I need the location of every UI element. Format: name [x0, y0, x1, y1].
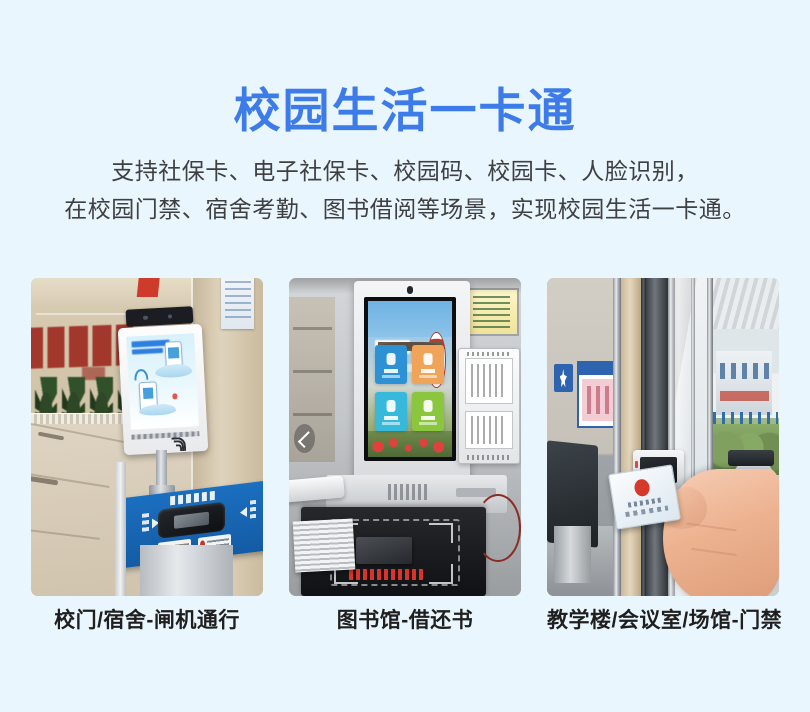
social-security-card: [608, 464, 681, 529]
book-stack: [292, 518, 355, 572]
nfc-icon: [170, 438, 189, 452]
page-title: 校园生活一卡通: [0, 87, 810, 134]
door-frame: [641, 278, 646, 596]
wifi-icon: [135, 369, 149, 380]
terminal-screen[interactable]: [126, 333, 199, 429]
turnstile-side-body: [115, 462, 127, 596]
tile-label: [384, 369, 398, 373]
gate-label-left: [143, 514, 149, 533]
tile-sublabel: [419, 422, 437, 424]
tile-sublabel: [419, 375, 437, 377]
kiosk-brand-text: [388, 484, 428, 501]
caption-gate: 校门/宿舍-闸机通行: [31, 604, 263, 636]
cable-coil: [475, 494, 521, 562]
instruction-panel: [458, 348, 520, 464]
noticeboard-body: [582, 379, 617, 421]
subtitle-line-2: 在校园门禁、宿舍考勤、图书借阅等场景，实现校园生活一卡通。: [0, 190, 810, 228]
scene-card-library[interactable]: [289, 278, 521, 596]
screen-tile-borrow[interactable]: [375, 345, 407, 384]
tile-sublabel: [382, 375, 400, 377]
scan-corner-marker: [429, 523, 453, 543]
desk-dark-band: [728, 450, 774, 466]
terminal-ad-subhead: [132, 347, 164, 354]
gate-card-reader-window[interactable]: [158, 502, 225, 540]
kiosk-screen[interactable]: [368, 301, 452, 457]
panel-qr-box: [465, 411, 513, 450]
status-led-red-icon: [635, 461, 639, 468]
accent-dot-icon: [172, 393, 178, 399]
screen-header-band: [368, 301, 452, 337]
panel-footer-text: [467, 455, 510, 460]
caption-row: 校门/宿舍-闸机通行 图书馆-借还书 教学楼/会议室/场馆-门禁: [31, 604, 779, 636]
return-box-icon: [423, 353, 432, 366]
screen-tile-return[interactable]: [412, 345, 444, 384]
outdoor-ceiling: [712, 278, 779, 329]
poster-text-lines: [225, 281, 251, 322]
outdoor-building: [716, 351, 772, 415]
screen-flowers-illustration: [368, 431, 452, 458]
notice-board: [464, 288, 519, 337]
kiosk-head: [354, 281, 470, 481]
wall-sign-icon: [554, 364, 573, 393]
scene-card-gate[interactable]: [31, 278, 263, 596]
bench-leg: [554, 526, 591, 583]
tile-sublabel: [382, 422, 400, 424]
photo-library-kiosk: [289, 278, 521, 596]
turnstile-body: [140, 545, 233, 596]
camera-lens-icon: [144, 315, 149, 320]
scan-corner-marker: [429, 564, 453, 584]
plant-icon: [90, 377, 112, 415]
screen-tile-search[interactable]: [375, 392, 407, 431]
face-recognition-terminal[interactable]: [118, 324, 208, 455]
outdoor-railing: [713, 412, 778, 425]
book-icon: [387, 353, 396, 366]
red-banner-strip: [136, 278, 160, 297]
book-on-pad: [356, 537, 412, 564]
national-emblem-icon: [633, 478, 651, 497]
door-frame: [613, 278, 621, 596]
arrow-right-icon: [240, 507, 247, 518]
scene-card-door[interactable]: [547, 278, 779, 596]
plant-icon: [35, 377, 57, 415]
panel-title-text: [467, 352, 510, 357]
search-icon: [387, 400, 396, 413]
gate-label-right: [250, 501, 256, 520]
plant-icon: [62, 377, 84, 415]
scan-pad-label-text: [349, 569, 423, 580]
kiosk-screen-bezel: [364, 297, 456, 461]
chevron-left-icon[interactable]: [294, 424, 315, 453]
terminal-speaker-grille: [131, 431, 200, 440]
subtitle-line-1: 支持社保卡、电子社保卡、校园码、校园卡、人脸识别，: [111, 158, 699, 184]
promo-page: 校园生活一卡通 支持社保卡、电子社保卡、校园码、校园卡、人脸识别， 在校园门禁、…: [0, 0, 810, 712]
camera-icon: [407, 286, 413, 294]
photo-gate-turnstile: [31, 278, 263, 596]
wood-door-post: [621, 278, 641, 596]
caption-door: 教学楼/会议室/场馆-门禁: [547, 604, 779, 636]
hand-illustration: [155, 363, 193, 378]
card-icon: [423, 400, 432, 413]
scene-image-row: [31, 278, 779, 596]
camera-lens-icon: [168, 314, 173, 319]
tile-label: [421, 416, 435, 420]
caption-library: 图书馆-借还书: [289, 604, 521, 636]
page-subtitle: 支持社保卡、电子社保卡、校园码、校园卡、人脸识别， 在校园门禁、宿舍考勤、图书借…: [0, 152, 810, 228]
panel-instructions-box: [465, 358, 513, 403]
screen-tile-account[interactable]: [412, 392, 444, 431]
photo-door-access: [547, 278, 779, 596]
tile-label: [384, 416, 398, 420]
tile-label: [421, 369, 435, 373]
wall-poster: [221, 278, 253, 329]
